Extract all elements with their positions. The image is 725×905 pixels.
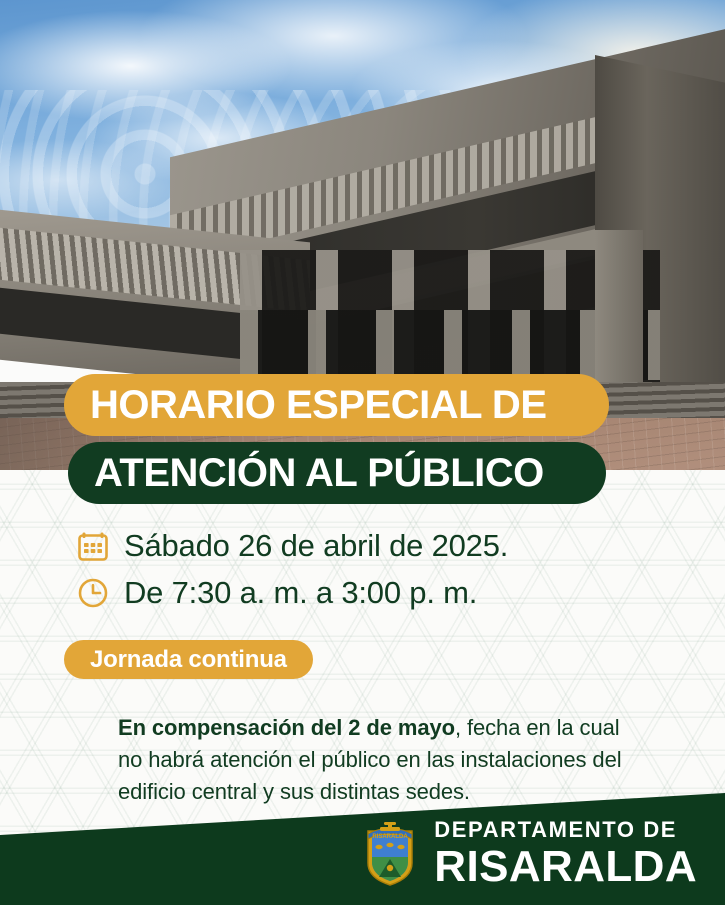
clock-icon bbox=[76, 576, 110, 610]
title-line-1: HORARIO ESPECIAL DE bbox=[90, 385, 547, 425]
calendar-icon bbox=[76, 529, 110, 563]
detail-row-date: Sábado 26 de abril de 2025. bbox=[76, 528, 508, 564]
title-banner-gold: HORARIO ESPECIAL DE bbox=[64, 374, 609, 436]
department-wordmark: DEPARTAMENTO DE RISARALDA bbox=[434, 819, 697, 889]
footer-logo-lockup: RISARALDA DEPARTAMENTO DE RISARALDA bbox=[362, 819, 697, 889]
detail-text-time: De 7:30 a. m. a 3:00 p. m. bbox=[124, 575, 477, 611]
crest-banner-text: RISARALDA bbox=[373, 834, 409, 840]
detail-row-time: De 7:30 a. m. a 3:00 p. m. bbox=[76, 575, 477, 611]
status-badge: Jornada continua bbox=[64, 640, 313, 679]
poster-canvas: HORARIO ESPECIAL DE ATENCIÓN AL PÚBLICO … bbox=[0, 0, 725, 905]
body-bold-text: En compensación del 2 de mayo bbox=[118, 715, 455, 740]
title-banner-green: ATENCIÓN AL PÚBLICO bbox=[68, 442, 606, 504]
risaralda-coat-of-arms-icon: RISARALDA bbox=[362, 821, 418, 887]
body-paragraph: En compensación del 2 de mayo, fecha en … bbox=[118, 712, 638, 808]
status-badge-label: Jornada continua bbox=[90, 646, 287, 674]
detail-text-date: Sábado 26 de abril de 2025. bbox=[124, 528, 508, 564]
title-line-2: ATENCIÓN AL PÚBLICO bbox=[94, 453, 544, 493]
department-label-top: DEPARTAMENTO DE bbox=[434, 819, 697, 841]
department-label-main: RISARALDA bbox=[434, 845, 697, 889]
